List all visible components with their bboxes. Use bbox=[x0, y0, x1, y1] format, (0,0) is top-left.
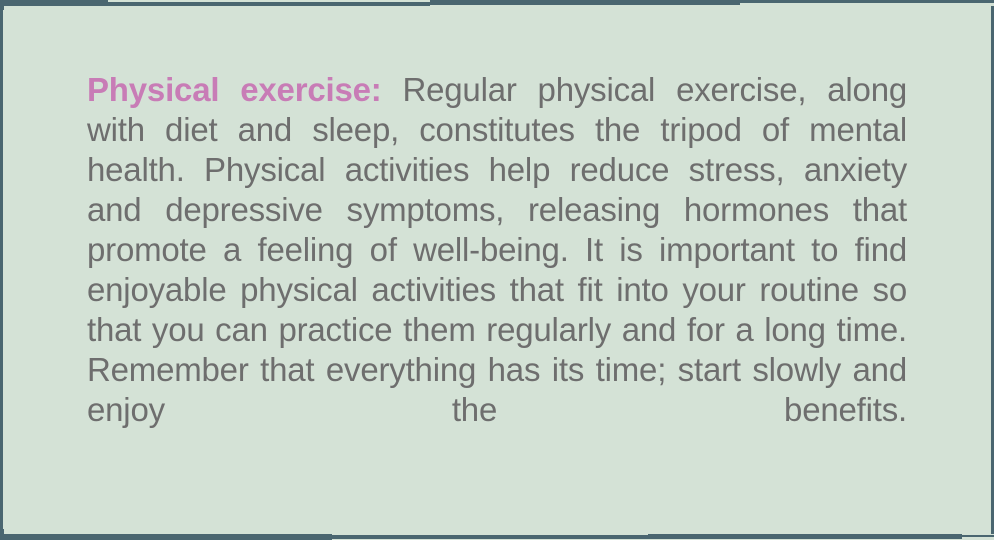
body-paragraph: Physical exercise: Regular physical exer… bbox=[87, 70, 907, 470]
top-band-segment-3 bbox=[430, 0, 740, 5]
bottom-band-segment-4 bbox=[962, 535, 994, 537]
bottom-band-segment-1 bbox=[0, 534, 332, 540]
bottom-decorative-band bbox=[0, 528, 994, 540]
bottom-band-segment-2 bbox=[332, 535, 648, 539]
top-band-segment-1 bbox=[0, 0, 108, 6]
top-decorative-band bbox=[0, 0, 994, 10]
paragraph-lead-in: Physical exercise: bbox=[87, 71, 382, 108]
bottom-band-corner-tick bbox=[0, 529, 4, 535]
left-edge-rule bbox=[0, 6, 3, 534]
top-band-segment-4 bbox=[740, 0, 994, 3]
top-band-segment-2 bbox=[108, 2, 430, 6]
bottom-band-segment-3 bbox=[648, 534, 962, 539]
text-content-block: Physical exercise: Regular physical exer… bbox=[87, 70, 907, 470]
slide-card: Physical exercise: Regular physical exer… bbox=[0, 0, 994, 540]
paragraph-body-text: Regular physical exercise, along with di… bbox=[87, 71, 907, 428]
